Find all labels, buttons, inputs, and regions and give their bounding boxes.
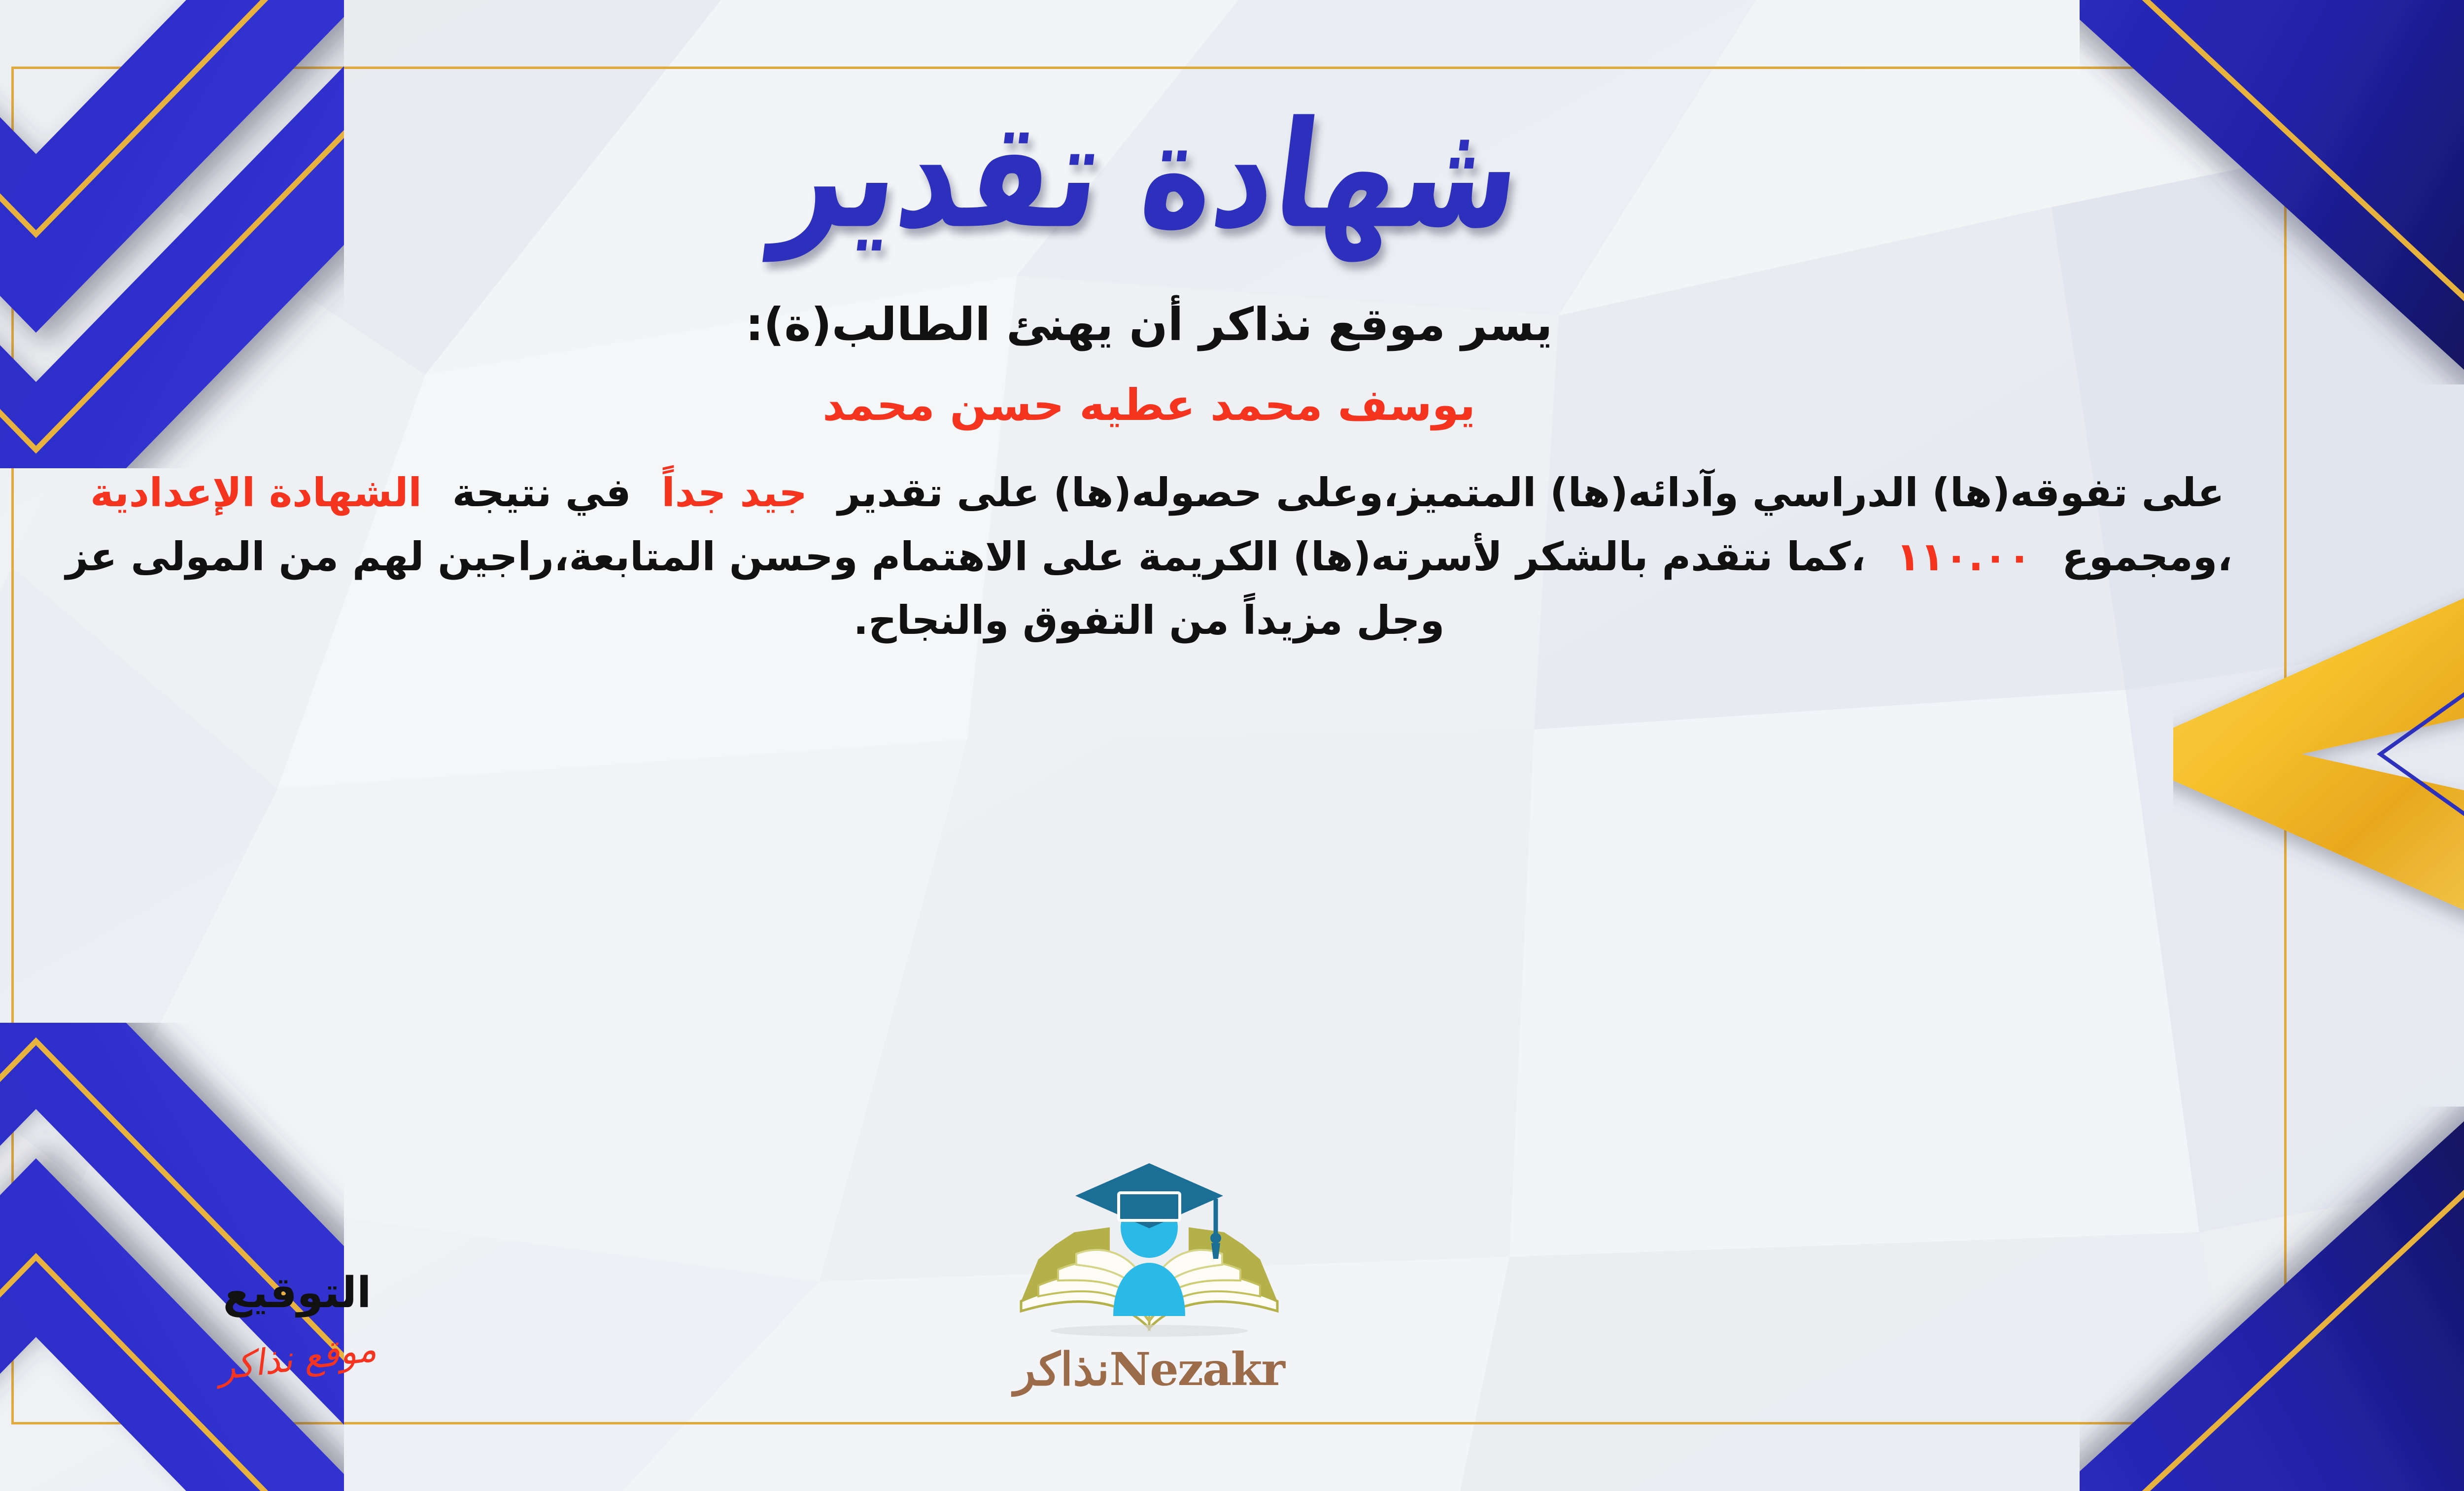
exam-name: الشهادة الإعدادية xyxy=(73,470,439,516)
frame-line-bottom xyxy=(11,1422,2287,1424)
citation-segment-4: ،كما نتقدم بالشكر لأسرته(ها) xyxy=(1293,534,1866,580)
student-name: يوسف محمد عطيه حسن محمد xyxy=(822,380,1475,430)
citation-paragraph: على تفوقه(ها) الدراسي وآدائه(ها) المتميز… xyxy=(21,461,2277,653)
frame-line-right xyxy=(2284,67,2287,1424)
graduate-on-book-logo-icon xyxy=(992,1153,1307,1346)
signature-label: التوقيع xyxy=(110,1268,484,1318)
frame-line-top xyxy=(11,67,2287,69)
citation-segment-6: مزيداً من التفوق والنجاح. xyxy=(854,597,1343,643)
certificate-content: شهادة تقدير يسر موقع نذاكر أن يهنئ الطال… xyxy=(21,74,2277,1417)
signature-handwriting: موقع نذاكر xyxy=(215,1328,378,1388)
frame-line-left xyxy=(11,67,14,1424)
brand-logo: Nezakrنذاكر xyxy=(992,1153,1307,1396)
total-score: ١١٠.٠٠ xyxy=(1880,534,2049,580)
greeting-line: يسر موقع نذاكر أن يهنئ الطالب(ة): xyxy=(746,298,1553,351)
signature-block: التوقيع موقع نذاكر xyxy=(110,1268,484,1379)
citation-segment-3: ،ومجموع xyxy=(2062,534,2232,580)
citation-segment-2: في نتيجة xyxy=(452,470,631,516)
certificate-canvas: شهادة تقدير يسر موقع نذاكر أن يهنئ الطال… xyxy=(0,0,2464,1491)
page-title: شهادة تقدير xyxy=(769,102,1529,249)
brand-logo-text: Nezakrنذاكر xyxy=(992,1343,1307,1396)
certificate-footer: التوقيع موقع نذاكر xyxy=(21,1112,2277,1408)
citation-segment-1: على تفوقه(ها) الدراسي وآدائه(ها) المتميز… xyxy=(838,470,2224,516)
certificate-title-wrap: شهادة تقدير xyxy=(21,94,2277,256)
grade-value: جيد جداً xyxy=(645,470,824,516)
